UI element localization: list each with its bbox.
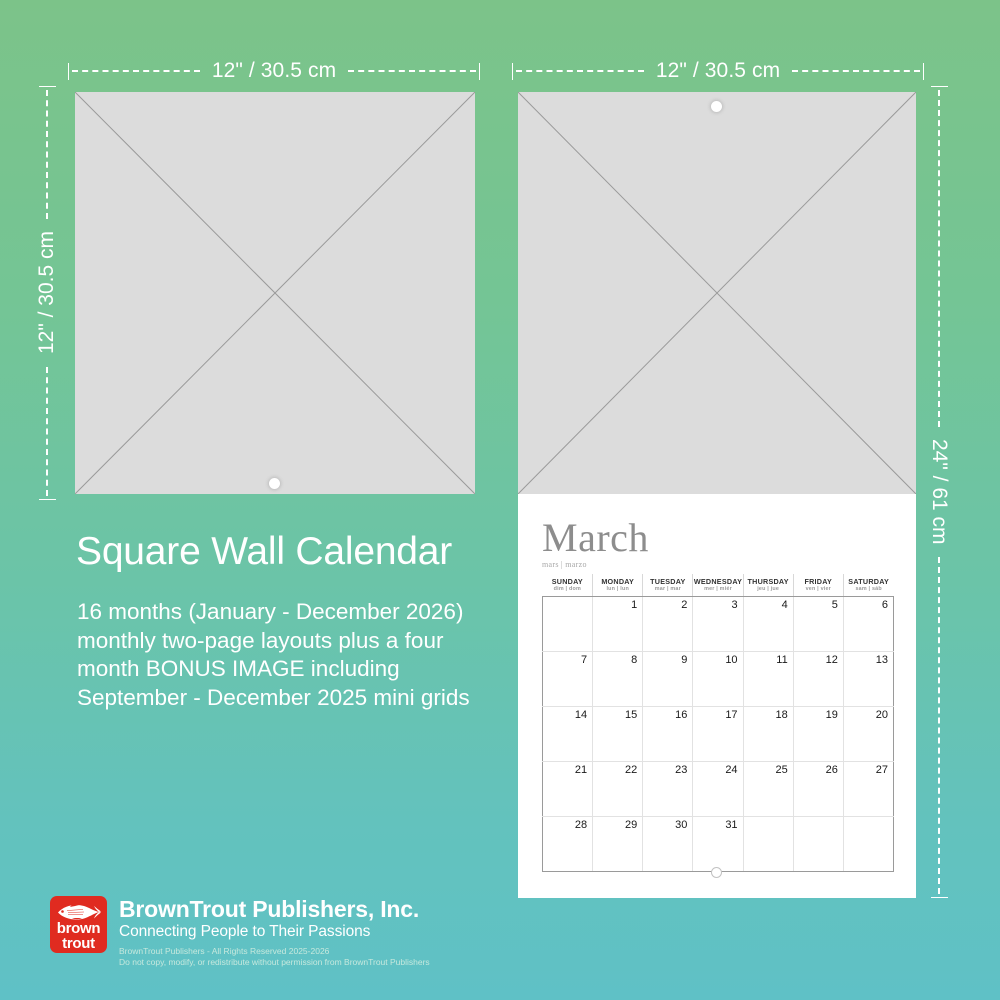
calendar-day-cell: 19 [793,707,843,762]
calendar-day-cell: 29 [593,817,643,872]
calendar-day-cell: 18 [743,707,793,762]
grommet-hole-top-panel [711,101,722,112]
day-label-en: THURSDAY [744,577,793,586]
description-line: monthly two-page layouts plus a four [77,627,527,656]
product-description: 16 months (January - December 2026) mont… [77,598,527,712]
day-label-en: SATURDAY [844,577,894,586]
calendar-week-row: 7 8 9 10 11 12 13 [543,652,894,707]
dimension-cap-left [68,63,69,80]
calendar-day-header: THURSDAY jeu | jue [743,574,793,597]
day-label-sub: mer | miér [693,586,742,593]
calendar-day-cell: 26 [793,762,843,817]
logo-wordmark: brown trout [50,922,107,951]
legal-line: BrownTrout Publishers - All Rights Reser… [119,946,430,957]
calendar-week-row: 21 22 23 24 25 26 27 [543,762,894,817]
dimension-cap-bottom [39,499,56,500]
day-label-sub: dim | dom [543,586,593,593]
calendar-day-cell: 4 [743,597,793,652]
calendar-day-cell: 8 [593,652,643,707]
calendar-day-header: TUESDAY mar | mar [643,574,693,597]
page-title: Square Wall Calendar [76,532,452,571]
dimension-dash-right [792,70,920,72]
calendar-day-cell: 28 [543,817,593,872]
description-line: September - December 2025 mini grids [77,684,527,713]
calendar-day-header: SATURDAY sam | sáb [843,574,893,597]
calendar-day-cell: 17 [693,707,743,762]
calendar-day-cell: 23 [643,762,693,817]
calendar-day-cell: 2 [643,597,693,652]
dimension-cap-top [39,86,56,87]
calendar-day-cell: 31 [693,817,743,872]
grommet-hole-left-panel [269,478,280,489]
calendar-week-row: 14 15 16 17 18 19 20 [543,707,894,762]
calendar-day-header: SUNDAY dim | dom [543,574,593,597]
calendar-day-header: WEDNESDAY mer | miér [693,574,743,597]
calendar-day-cell: 3 [693,597,743,652]
day-label-sub: ven | vier [794,586,843,593]
product-image-placeholder-top [518,92,916,494]
calendar-day-cell: 1 [593,597,643,652]
calendar-day-cell: 30 [643,817,693,872]
placeholder-cross-lines [518,92,916,494]
calendar-month-title: March [542,518,894,557]
calendar-day-cell: 15 [593,707,643,762]
day-label-sub: sam | sáb [844,586,894,593]
day-label-en: MONDAY [593,577,642,586]
product-image-placeholder-front [75,92,475,494]
grommet-hole-calendar-bottom [711,867,722,878]
calendar-day-cell: 5 [793,597,843,652]
calendar-day-cell [543,597,593,652]
dimension-dash-left [72,70,200,72]
calendar-month-subtitle: mars | marzo [542,560,894,569]
calendar-day-cell [793,817,843,872]
calendar-day-cell: 9 [643,652,693,707]
calendar-day-cell: 27 [843,762,893,817]
dimension-cap-right [479,63,480,80]
calendar-day-cell: 22 [593,762,643,817]
dimension-dash-right [348,70,476,72]
dimension-label-height-right: 24" / 61 cm [927,430,951,554]
dimension-dash-bottom [938,557,940,894]
day-label-sub: mar | mar [643,586,692,593]
calendar-grid-sheet: March mars | marzo SUNDAY dim | dom MOND… [518,494,916,898]
calendar-day-cell: 25 [743,762,793,817]
day-label-en: FRIDAY [794,577,843,586]
calendar-day-header: FRIDAY ven | vier [793,574,843,597]
description-line: 16 months (January - December 2026) [77,598,527,627]
legal-notice: BrownTrout Publishers - All Rights Reser… [119,946,430,968]
calendar-day-cell: 6 [843,597,893,652]
calendar-day-cell: 14 [543,707,593,762]
day-label-en: WEDNESDAY [693,577,742,586]
dimension-dash-left [516,70,644,72]
calendar-day-cell: 11 [743,652,793,707]
placeholder-cross-lines [75,92,475,494]
calendar-day-cell: 7 [543,652,593,707]
day-label-sub: lun | lun [593,586,642,593]
calendar-header-row: SUNDAY dim | dom MONDAY lun | lun TUESDA… [543,574,894,597]
day-label-en: SUNDAY [543,577,593,586]
calendar-day-cell: 20 [843,707,893,762]
calendar-week-row: 28 29 30 31 [543,817,894,872]
dimension-line-top-right: 12" / 30.5 cm [512,60,924,82]
company-tagline: Connecting People to Their Passions [119,922,430,941]
logo-word-bottom: trout [50,937,107,952]
browntrout-logo: brown trout [50,896,107,953]
description-line: month BONUS IMAGE including [77,655,527,684]
dimension-label-height-left: 12" / 30.5 cm [35,222,59,363]
calendar-table: SUNDAY dim | dom MONDAY lun | lun TUESDA… [542,574,894,872]
company-name: BrownTrout Publishers, Inc. [119,897,430,922]
legal-line: Do not copy, modify, or redistribute wit… [119,957,430,968]
calendar-week-row: 1 2 3 4 5 6 [543,597,894,652]
dimension-dash-top [46,90,48,219]
dimension-dash-top [938,90,940,427]
dimension-cap-bottom [931,897,948,898]
calendar-day-cell [743,817,793,872]
calendar-day-cell: 10 [693,652,743,707]
calendar-day-cell: 12 [793,652,843,707]
day-label-sub: jeu | jue [744,586,793,593]
calendar-day-cell: 21 [543,762,593,817]
dimension-cap-top [931,86,948,87]
day-label-en: TUESDAY [643,577,692,586]
dimension-cap-right [923,63,924,80]
dimension-dash-bottom [46,367,48,496]
calendar-day-header: MONDAY lun | lun [593,574,643,597]
dimension-label-width-right: 12" / 30.5 cm [647,59,789,83]
dimension-line-left: 12" / 30.5 cm [36,86,58,500]
dimension-cap-left [512,63,513,80]
dimension-label-width-left: 12" / 30.5 cm [203,59,345,83]
calendar-day-cell: 16 [643,707,693,762]
brand-footer: brown trout BrownTrout Publishers, Inc. … [50,896,430,968]
dimension-line-right: 24" / 61 cm [928,86,950,898]
dimension-line-top-left: 12" / 30.5 cm [68,60,480,82]
calendar-day-cell: 13 [843,652,893,707]
calendar-day-cell: 24 [693,762,743,817]
calendar-day-cell [843,817,893,872]
